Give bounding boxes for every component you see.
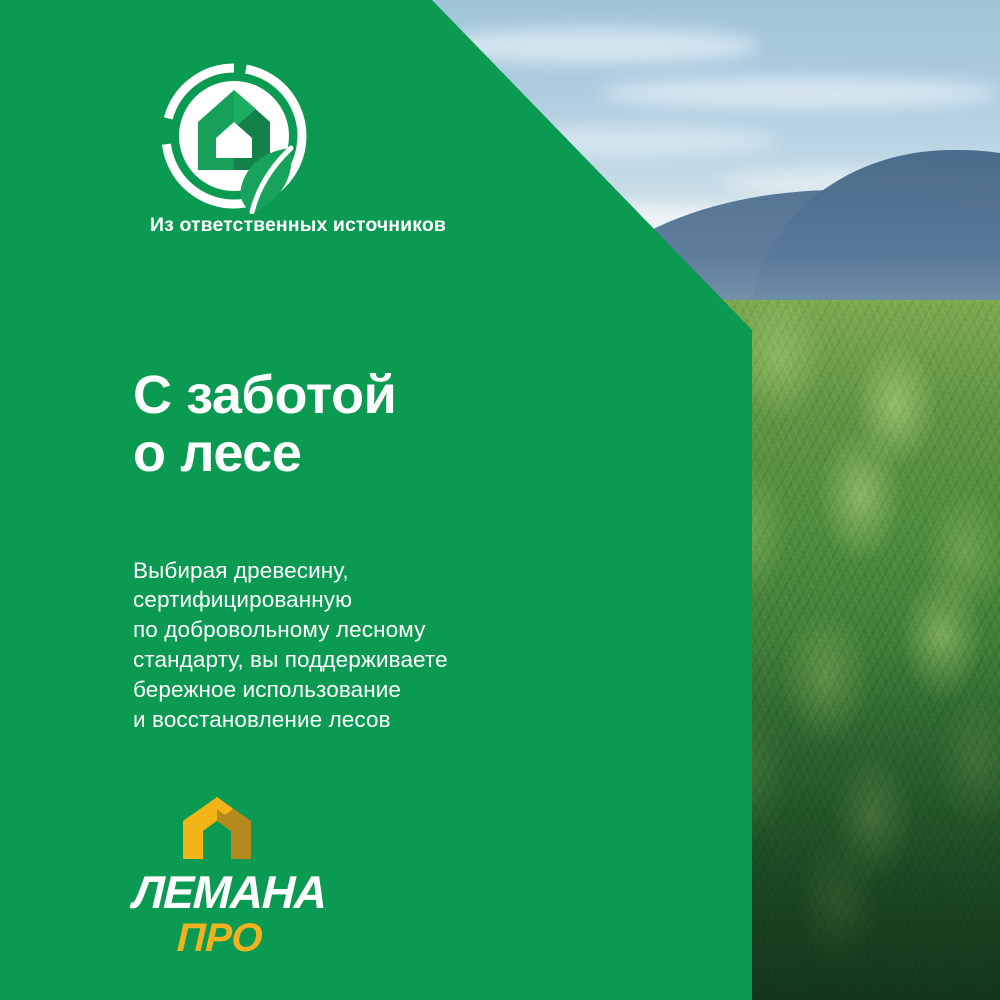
lemana-house-icon (181, 795, 253, 861)
house-leaf-circle-icon (160, 62, 308, 214)
page-title: С заботой о лесе (133, 366, 396, 483)
body-paragraph: Выбирая древесину, сертифицированную по … (133, 556, 448, 736)
poster-root: Из ответственных источников С заботой о … (0, 0, 1000, 1000)
brand-lockup: ЛЕМАНА ПРО (133, 795, 383, 958)
responsible-sourcing-badge (160, 62, 308, 214)
brand-suffix: ПРО (176, 918, 383, 958)
lemana-house-icon-wrapper (181, 795, 253, 861)
cloud-band (600, 78, 1000, 108)
eco-badge-caption: Из ответственных источников (128, 214, 468, 237)
brand-name: ЛЕМАНА (132, 869, 384, 915)
